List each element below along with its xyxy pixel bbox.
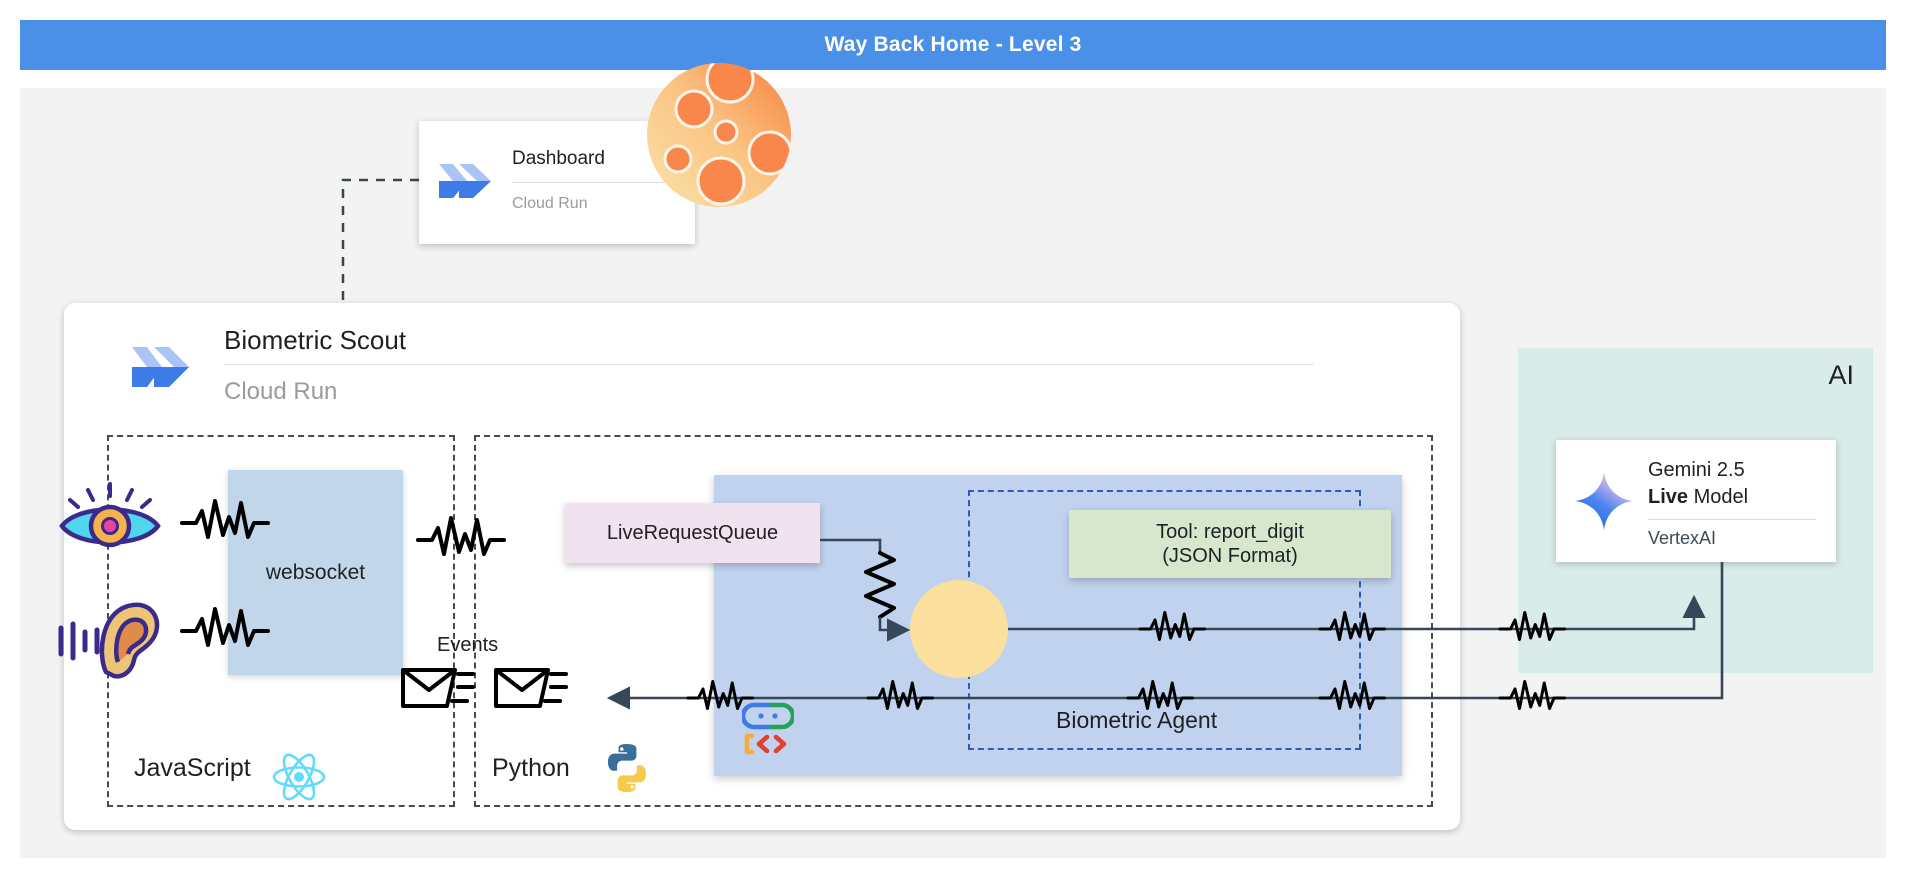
- gemini-model-version: Gemini 2.5: [1648, 459, 1745, 481]
- tool-format-line: (JSON Format): [1162, 544, 1298, 568]
- event-envelope-icon: [493, 662, 569, 712]
- gemini-platform: VertexAI: [1648, 520, 1816, 549]
- planet-icon: [647, 63, 791, 207]
- gemini-model-suffix: Model: [1688, 486, 1748, 508]
- event-envelope-icon: [400, 662, 476, 712]
- gemini-model-emphasis: Live: [1648, 486, 1688, 508]
- tool-name-line: Tool: report_digit: [1156, 520, 1304, 544]
- live-request-queue-box: LiveRequestQueue: [565, 503, 820, 563]
- gemini-card-texts: Gemini 2.5 Live Model VertexAI: [1648, 457, 1816, 549]
- javascript-label-text: JavaScript: [134, 754, 251, 783]
- python-label: Python: [492, 754, 570, 783]
- python-icon: [601, 742, 653, 794]
- javascript-label: JavaScript: [134, 754, 251, 783]
- eye-icon: [58, 482, 162, 554]
- biometric-scout-divider: [224, 364, 1314, 365]
- react-icon: [272, 752, 326, 802]
- biometric-agent-label: Biometric Agent: [1056, 707, 1217, 734]
- page-title: Way Back Home - Level 3: [824, 33, 1081, 57]
- gemini-model-name: Gemini 2.5 Live Model: [1648, 457, 1816, 519]
- cloud-run-icon: [126, 331, 198, 403]
- cloud-run-icon: [433, 148, 499, 214]
- websocket-box: websocket: [228, 470, 403, 675]
- biometric-scout-title: Biometric Scout: [224, 325, 406, 356]
- events-label: Events: [437, 634, 498, 657]
- gemini-model-card[interactable]: Gemini 2.5 Live Model VertexAI: [1556, 440, 1836, 562]
- ear-icon: [56, 594, 166, 680]
- biometric-scout-subtitle: Cloud Run: [224, 378, 337, 406]
- gemini-sparkle-icon: [1573, 470, 1635, 532]
- diagram-canvas: Way Back Home - Level 3 Dashboard Cloud …: [0, 0, 1906, 874]
- adk-icon: [742, 702, 794, 756]
- tool-report-digit-box: Tool: report_digit (JSON Format): [1069, 510, 1391, 578]
- window-title-bar: Way Back Home - Level 3: [20, 20, 1886, 70]
- agent-runner-circle: [910, 580, 1008, 678]
- ai-panel-label: AI: [1828, 360, 1854, 391]
- python-label-text: Python: [492, 754, 570, 783]
